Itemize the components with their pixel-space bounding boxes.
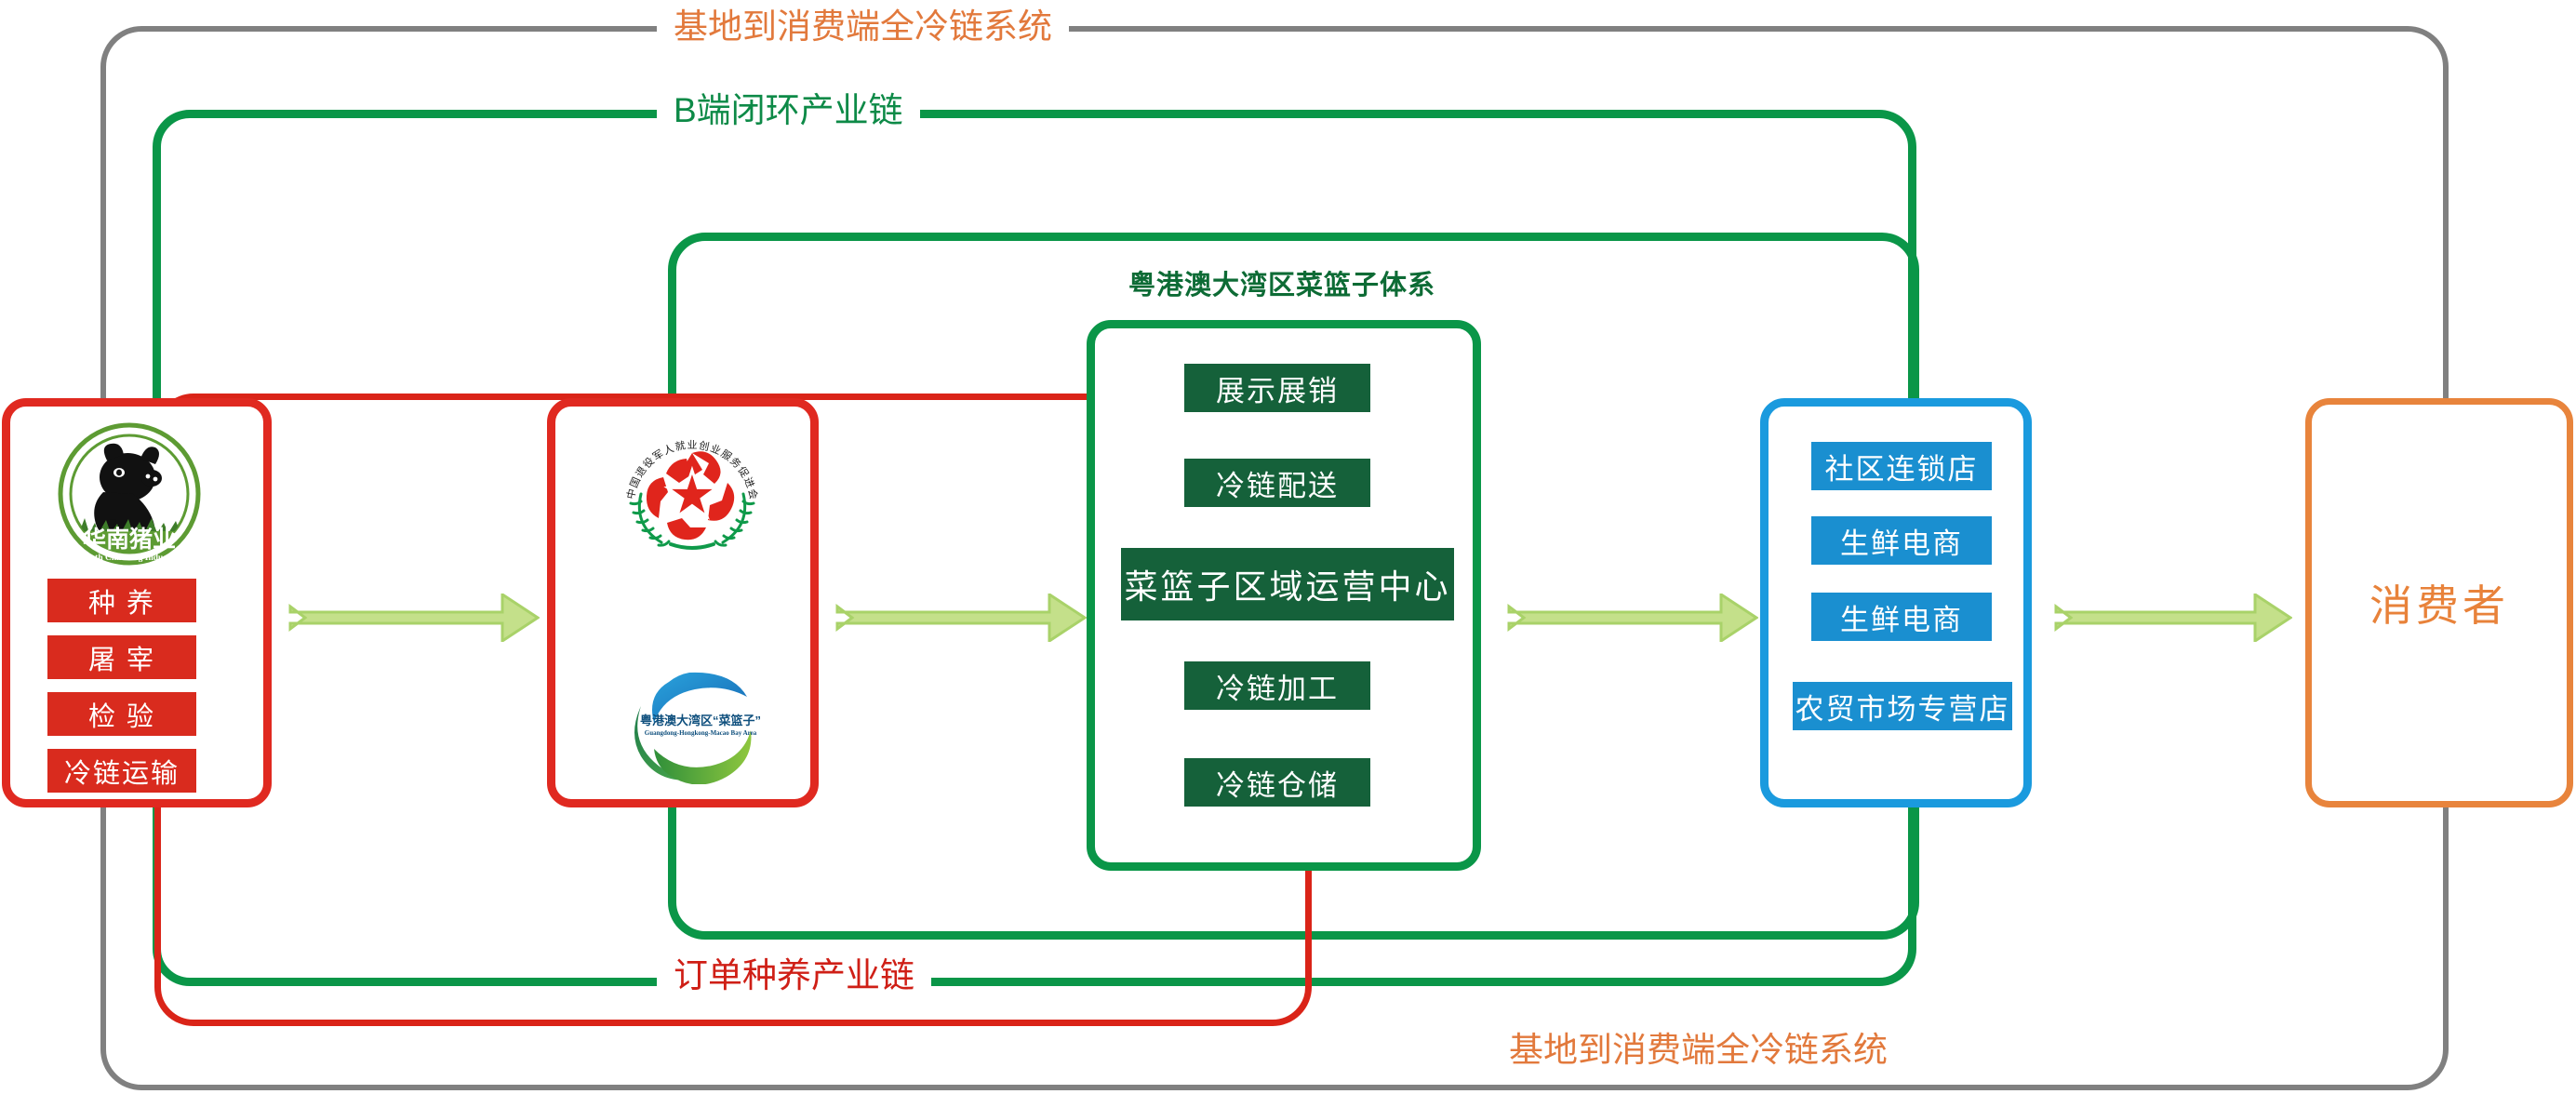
basket-chip-4[interactable]: 冷链仓储: [1184, 758, 1370, 807]
retail-chip-1[interactable]: 生鲜电商: [1811, 516, 1992, 565]
arrow-basket-to-retail: [1507, 594, 1758, 642]
svg-text:粤港澳大湾区“菜篮子”: 粤港澳大湾区“菜篮子”: [640, 714, 760, 727]
retail-channels-box[interactable]: 社区连锁店 生鲜电商 生鲜电商 农贸市场专营店: [1760, 398, 2032, 807]
production-chip-0[interactable]: 种 养: [47, 579, 196, 622]
arrow-retail-to-consumer: [2054, 594, 2292, 642]
retail-chip-0[interactable]: 社区连锁店: [1811, 442, 1992, 490]
arrow-certification-to-basket: [835, 594, 1087, 642]
pig-logo-english-name: South China Pig Industry: [81, 554, 179, 563]
retail-chip-3[interactable]: 农贸市场专营店: [1793, 682, 2012, 730]
basket-chip-2[interactable]: 菜篮子区域运营中心: [1121, 548, 1454, 620]
basket-chip-3[interactable]: 冷链加工: [1184, 661, 1370, 710]
supply-chain-diagram: 基地到消费端全冷链系统 B端闭环产业链 订单种养产业链 基地到消费端全冷链系统 …: [0, 0, 2576, 1094]
consumer-stage-box[interactable]: 消费者: [2305, 398, 2573, 807]
label-order-farming-chain: 订单种养产业链: [657, 958, 931, 993]
retail-chip-2[interactable]: 生鲜电商: [1811, 593, 1992, 641]
production-chip-1[interactable]: 屠 宰: [47, 635, 196, 679]
arrow-production-to-certification: [288, 594, 540, 642]
label-cold-chain-bottom: 基地到消费端全冷链系统: [1492, 1033, 1904, 1067]
svg-text:Guangdong-Hongkong-Macao Bay A: Guangdong-Hongkong-Macao Bay Area: [645, 729, 757, 737]
production-chip-3[interactable]: 冷链运输: [47, 749, 196, 793]
pig-logo-chinese-name: 华南猪业: [83, 526, 176, 553]
label-b-end-closed-loop: B端闭环产业链: [657, 93, 920, 127]
pig-logo-icon: 华南猪业 South China Pig Industry: [38, 420, 220, 568]
basket-chip-1[interactable]: 冷链配送: [1184, 459, 1370, 507]
basket-system-box[interactable]: 展示展销 冷链配送 菜篮子区域运营中心 冷链加工 冷链仓储: [1087, 320, 1481, 871]
greater-bay-vegetable-basket-icon: 粤港澳大湾区“菜篮子” Guangdong-Hongkong-Macao Bay…: [619, 663, 760, 784]
basket-system-heading: 粤港澳大湾区菜篮子体系: [1128, 263, 1435, 302]
production-stage-box[interactable]: 华南猪业 South China Pig Industry 种 养 屠 宰 检 …: [2, 398, 272, 807]
certification-stage-box[interactable]: 中国退役军人就业创业服务促进会: [547, 398, 819, 807]
production-chip-2[interactable]: 检 验: [47, 692, 196, 736]
consumer-label: 消费者: [2369, 572, 2509, 634]
basket-chip-0[interactable]: 展示展销: [1184, 364, 1370, 412]
label-cold-chain-top: 基地到消费端全冷链系统: [657, 9, 1069, 44]
veterans-star-emblem-icon: 中国退役军人就业创业服务促进会: [613, 431, 771, 570]
